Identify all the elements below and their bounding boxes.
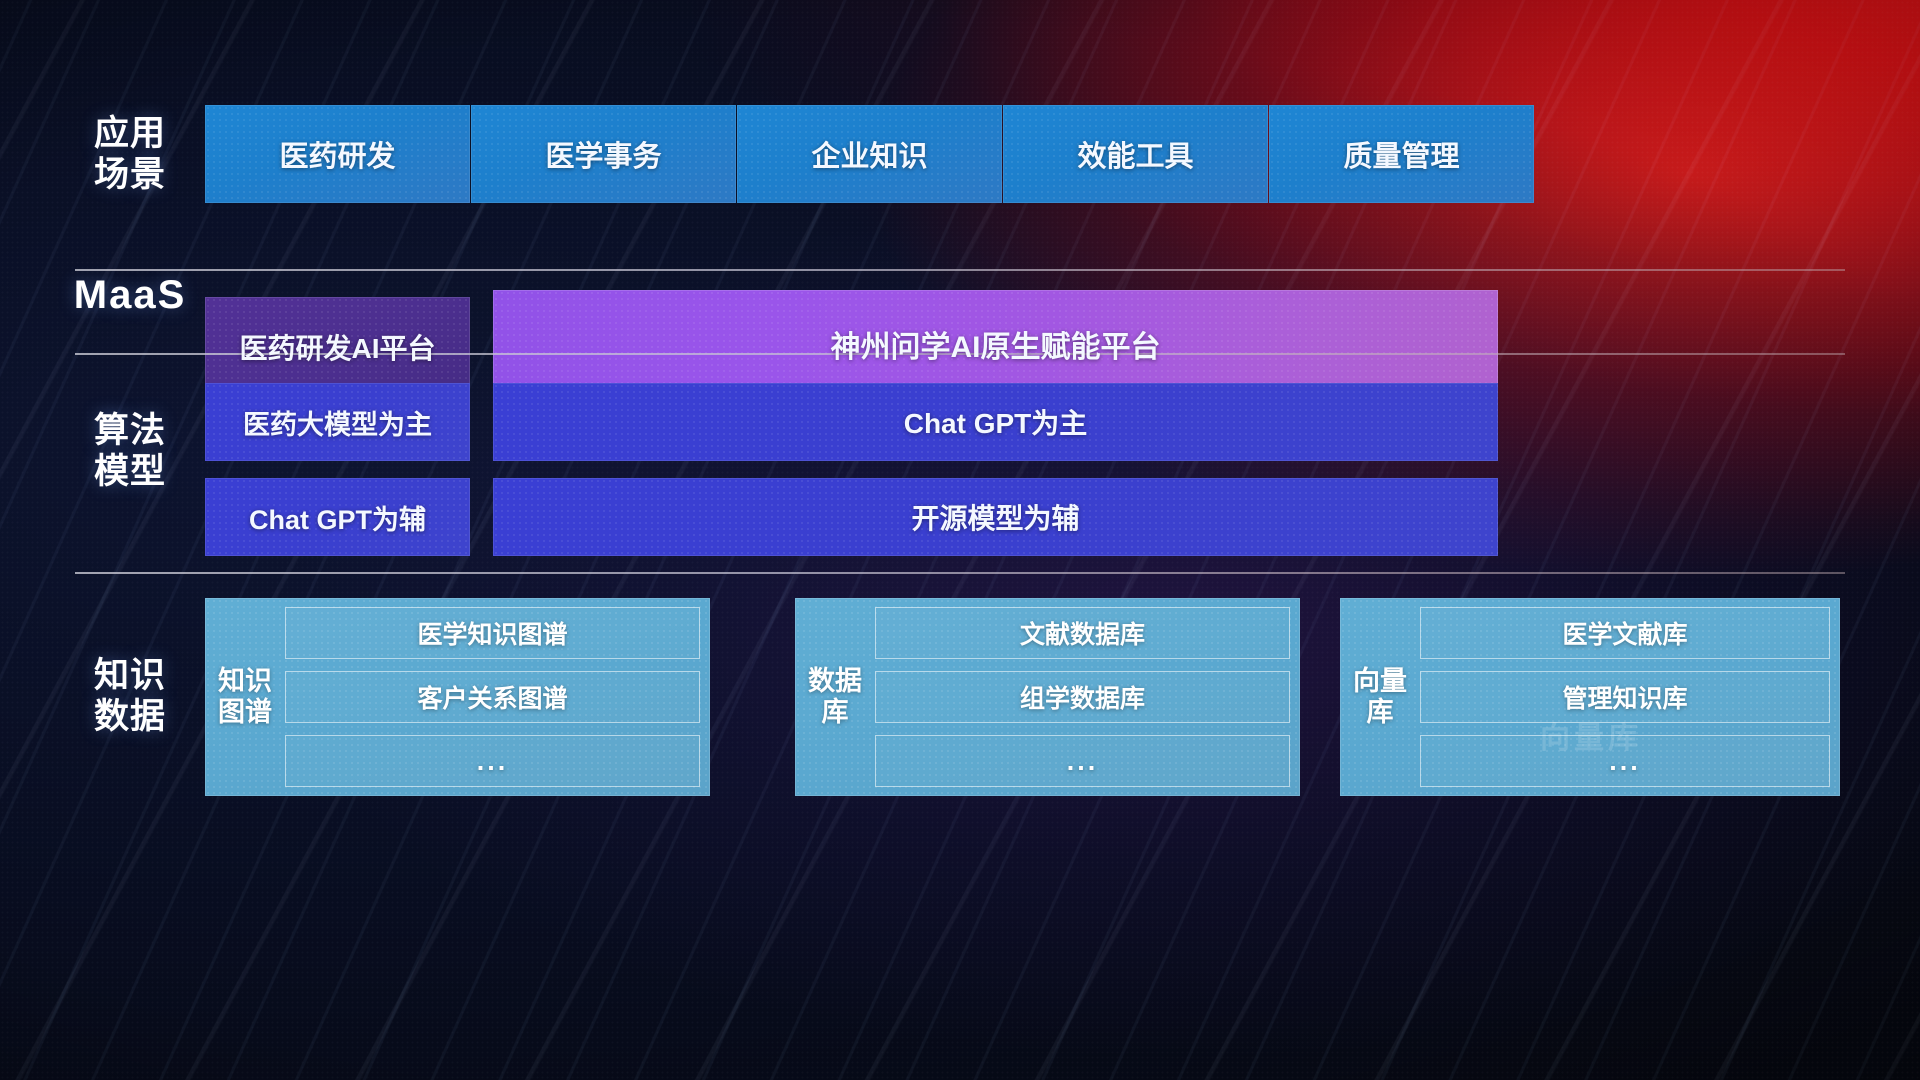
knowledge-group-title: 数据库 xyxy=(807,666,863,729)
row-label-algorithm: 算法 模型 xyxy=(60,410,200,493)
row-label-application-line2: 场景 xyxy=(60,154,200,195)
algo-box-chatgpt-primary[interactable]: Chat GPT为主 xyxy=(493,383,1498,461)
row-label-knowledge: 知识 数据 xyxy=(60,655,200,738)
maas-box-label: 神州问学AI原生赋能平台 xyxy=(831,322,1161,366)
app-box-label: 质量管理 xyxy=(1343,133,1459,175)
app-box-medical-affairs[interactable]: 医学事务 xyxy=(471,105,736,203)
knowledge-group-database[interactable]: 数据库 文献数据库 组学数据库 ... xyxy=(795,598,1300,796)
algo-box-label: Chat GPT为辅 xyxy=(249,498,426,537)
app-box-label: 医药研发 xyxy=(279,133,395,175)
algo-box-chatgpt-secondary[interactable]: Chat GPT为辅 xyxy=(205,478,470,556)
app-box-label: 效能工具 xyxy=(1077,133,1193,175)
algo-box-opensource-secondary[interactable]: 开源模型为辅 xyxy=(493,478,1498,556)
knowledge-item-more[interactable]: ... xyxy=(875,735,1290,787)
knowledge-item[interactable]: 医学知识图谱 xyxy=(285,607,700,659)
row-label-algorithm-line1: 算法 xyxy=(60,410,200,451)
knowledge-group-graph[interactable]: 知识图谱 医学知识图谱 客户关系图谱 ... xyxy=(205,598,710,796)
knowledge-item[interactable]: 客户关系图谱 xyxy=(285,671,700,723)
app-box-quality-management[interactable]: 质量管理 xyxy=(1269,105,1534,203)
algo-box-label: 开源模型为辅 xyxy=(911,497,1079,537)
knowledge-group-title: 向量库 xyxy=(1352,666,1408,729)
row-label-knowledge-line1: 知识 xyxy=(60,655,200,696)
row-label-maas: MaaS xyxy=(60,272,200,319)
divider-application-maas xyxy=(75,269,1845,271)
app-box-efficiency-tools[interactable]: 效能工具 xyxy=(1003,105,1268,203)
maas-box-medicine-ai-platform[interactable]: 医药研发AI平台 xyxy=(205,297,470,397)
knowledge-item[interactable]: 管理知识库 xyxy=(1420,671,1830,723)
algo-box-label: Chat GPT为主 xyxy=(904,402,1088,442)
knowledge-group-items: 医学文献库 管理知识库 ... xyxy=(1420,607,1830,787)
algo-box-medicine-llm-primary[interactable]: 医药大模型为主 xyxy=(205,383,470,461)
maas-box-label: 医药研发AI平台 xyxy=(239,327,435,367)
maas-box-shenzhou-wenxue-platform[interactable]: 神州问学AI原生赋能平台 xyxy=(493,290,1498,398)
slide-canvas: 应用 场景 医药研发 医学事务 企业知识 效能工具 质量管理 MaaS xyxy=(0,0,1920,1080)
knowledge-item-more[interactable]: ... xyxy=(285,735,700,787)
knowledge-group-title: 知识图谱 xyxy=(217,666,273,729)
knowledge-group-items: 医学知识图谱 客户关系图谱 ... xyxy=(285,607,700,787)
row-label-application: 应用 场景 xyxy=(60,113,200,196)
knowledge-group-items: 文献数据库 组学数据库 ... xyxy=(875,607,1290,787)
row-label-algorithm-line2: 模型 xyxy=(60,451,200,492)
knowledge-item[interactable]: 组学数据库 xyxy=(875,671,1290,723)
row-label-maas-text: MaaS xyxy=(74,273,187,317)
app-box-medicine-rnd[interactable]: 医药研发 xyxy=(205,105,470,203)
divider-algorithm-knowledge xyxy=(75,572,1845,574)
knowledge-item[interactable]: 文献数据库 xyxy=(875,607,1290,659)
app-box-enterprise-knowledge[interactable]: 企业知识 xyxy=(737,105,1002,203)
knowledge-group-vector-store[interactable]: 向量库 向量库 医学文献库 管理知识库 ... xyxy=(1340,598,1840,796)
knowledge-item-more[interactable]: ... xyxy=(1420,735,1830,787)
algo-box-label: 医药大模型为主 xyxy=(243,403,432,442)
knowledge-item[interactable]: 医学文献库 xyxy=(1420,607,1830,659)
app-box-label: 医学事务 xyxy=(545,133,661,175)
app-box-label: 企业知识 xyxy=(811,133,927,175)
row-label-knowledge-line2: 数据 xyxy=(60,696,200,737)
row-label-application-line1: 应用 xyxy=(60,113,200,154)
diagram-content: 应用 场景 医药研发 医学事务 企业知识 效能工具 质量管理 MaaS xyxy=(0,0,1920,1080)
